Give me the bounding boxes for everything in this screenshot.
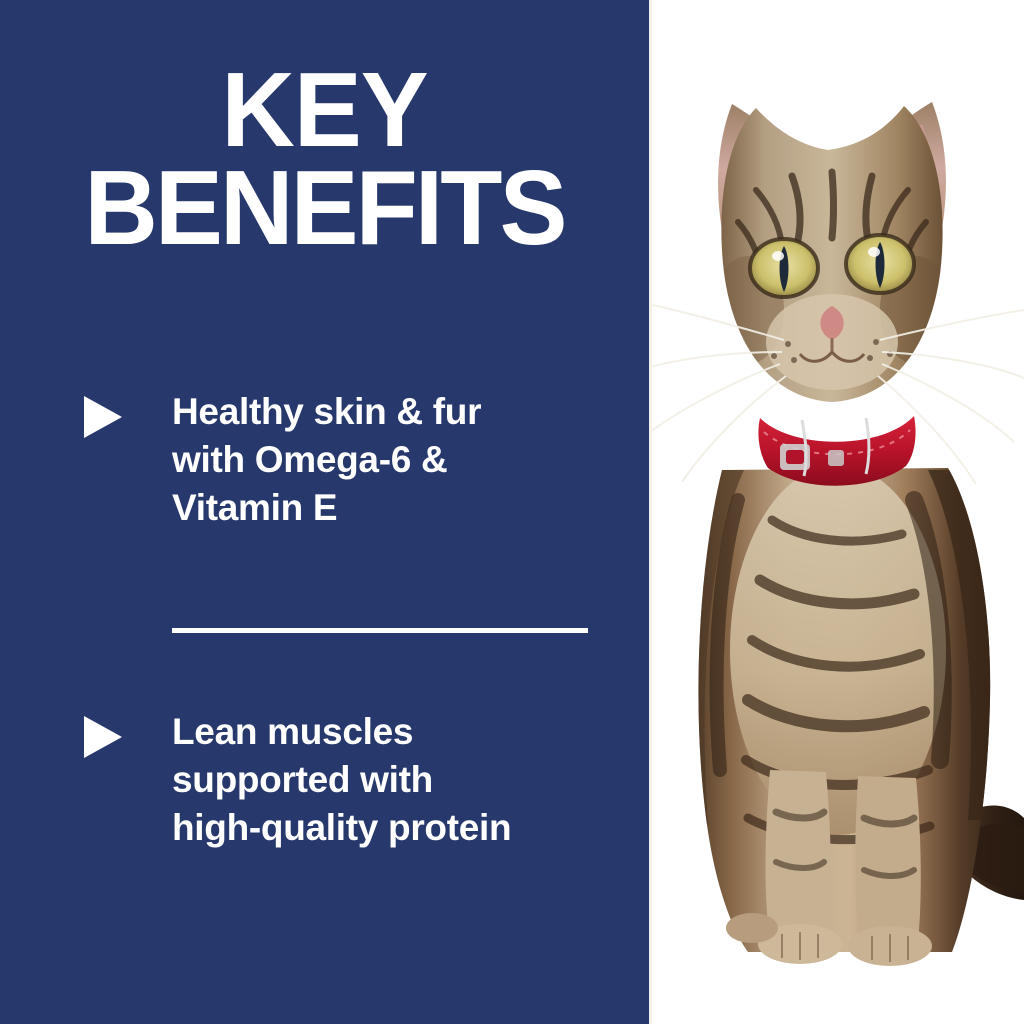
triangle-right-icon [84,716,122,758]
benefit-item: Healthy skin & fur with Omega-6 & Vitami… [84,388,604,532]
cat-body [682,465,992,952]
benefit-item-label: Healthy skin & fur with Omega-6 & Vitami… [172,388,481,532]
triangle-right-icon [84,396,122,438]
key-benefits-panel: KEY BENEFITS Healthy skin & fur with Ome… [0,0,1024,1024]
benefit-item: Lean muscles supported with high-quality… [84,708,604,852]
section-divider [172,628,588,633]
page-title-line-1: KEY [13,62,636,160]
cat-photo [652,0,1024,1024]
benefit-item-label: Lean muscles supported with high-quality… [172,708,511,852]
page-title-line-2: BENEFITS [13,160,636,258]
page-title: KEY BENEFITS [13,62,636,257]
